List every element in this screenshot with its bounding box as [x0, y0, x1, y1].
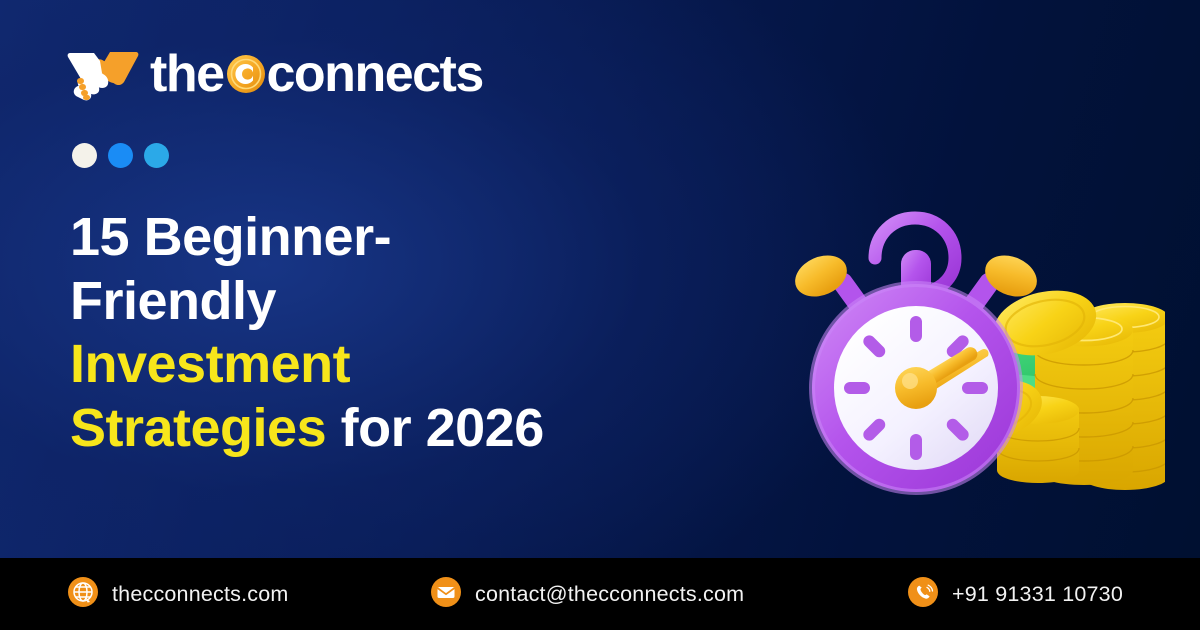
footer-phone-label: +91 91331 10730 — [952, 582, 1123, 607]
dot-1 — [72, 143, 97, 168]
footer-phone[interactable]: +91 91331 10730 — [908, 577, 1123, 612]
headline-line-2: Friendly — [70, 270, 710, 334]
brand-name-part1: the — [150, 48, 224, 100]
footer-email[interactable]: contact@thecconnects.com — [431, 577, 744, 612]
dot-2 — [108, 143, 133, 168]
brand-logo[interactable]: the connects — [64, 46, 483, 102]
handshake-icon — [64, 46, 140, 102]
phone-icon — [908, 577, 938, 612]
footer-email-label: contact@thecconnects.com — [475, 582, 744, 607]
headline-line-4-rest: for 2026 — [326, 398, 544, 458]
contact-footer: thecconnects.com contact@thecconnects.co… — [0, 558, 1200, 630]
envelope-icon — [431, 577, 461, 612]
dot-3 — [144, 143, 169, 168]
footer-website[interactable]: thecconnects.com — [68, 577, 288, 612]
promo-banner: the connects — [0, 0, 1200, 630]
headline-line-1: 15 Beginner- — [70, 206, 710, 270]
headline-line-4: Strategies for 2026 — [70, 397, 710, 461]
stopwatch-money-coins-illustration — [745, 198, 1165, 498]
coin-c-icon — [226, 54, 266, 94]
headline-line-4-highlight: Strategies — [70, 398, 326, 458]
page-title: 15 Beginner- Friendly Investment Strateg… — [70, 206, 710, 461]
decorative-dots — [72, 143, 169, 168]
brand-name-part2: connects — [267, 48, 483, 100]
brand-wordmark: the connects — [150, 48, 483, 100]
headline-line-3: Investment — [70, 333, 710, 397]
footer-website-label: thecconnects.com — [112, 582, 288, 607]
globe-icon — [68, 577, 98, 612]
